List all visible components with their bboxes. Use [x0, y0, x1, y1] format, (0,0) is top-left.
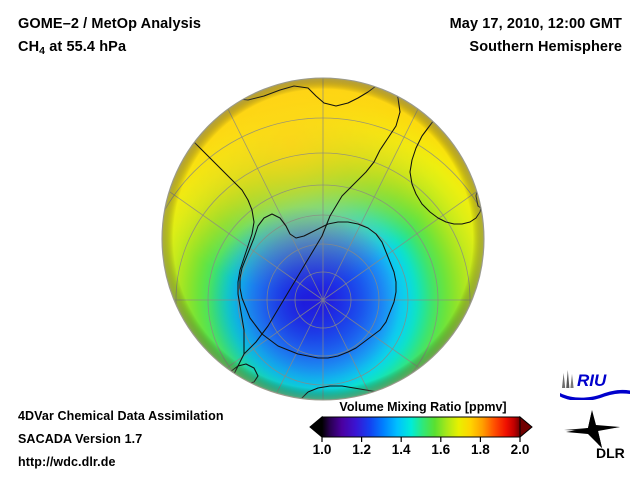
species-label: CH [18, 39, 39, 55]
colorbar-title: Volume Mixing Ratio [ppmv] [308, 400, 538, 414]
url-label[interactable]: http://wdc.dlr.de [18, 451, 224, 474]
riu-logo-text: RIU [577, 371, 607, 390]
dlr-logo: DLR [562, 408, 628, 462]
header-left: GOME–2 / MetOp Analysis CH4 at 55.4 hPa [18, 13, 201, 63]
hemisphere-label: Southern Hemisphere [450, 36, 622, 59]
colorbar: Volume Mixing Ratio [ppmv] 1.01.21.41.61… [308, 400, 538, 472]
instrument-title: GOME–2 / MetOp Analysis [18, 13, 201, 36]
dlr-logo-text: DLR [596, 445, 625, 461]
header-right: May 17, 2010, 12:00 GMT Southern Hemisph… [450, 13, 622, 59]
level-label: at 55.4 hPa [45, 39, 126, 55]
footer-left: 4DVar Chemical Data Assimilation SACADA … [18, 405, 224, 474]
colorbar-tick-label: 1.6 [431, 442, 450, 457]
colorbar-tick-label: 1.4 [392, 442, 411, 457]
colorbar-tick-labels: 1.01.21.41.61.82.0 [308, 442, 538, 464]
colorbar-cap-left [310, 417, 322, 437]
colorbar-tick-label: 2.0 [511, 442, 530, 457]
colorbar-bar [322, 417, 520, 437]
globe-limb-shading [162, 78, 484, 400]
globe-map [160, 76, 486, 402]
colorbar-svg [308, 415, 538, 443]
dlr-mark-icon [564, 410, 620, 448]
timestamp-label: May 17, 2010, 12:00 GMT [450, 13, 622, 36]
species-level-title: CH4 at 55.4 hPa [18, 36, 201, 63]
globe-svg [160, 76, 486, 402]
method-label: 4DVar Chemical Data Assimilation [18, 405, 224, 428]
colorbar-cap-right [520, 417, 532, 437]
riu-swoosh-icon [560, 390, 630, 400]
colorbar-tick-label: 1.2 [352, 442, 371, 457]
colorbar-tick-label: 1.8 [471, 442, 490, 457]
colorbar-tick-label: 1.0 [313, 442, 332, 457]
visualization-canvas: GOME–2 / MetOp Analysis CH4 at 55.4 hPa … [0, 0, 640, 480]
version-label: SACADA Version 1.7 [18, 428, 224, 451]
riu-towers-icon [562, 370, 574, 388]
riu-logo: RIU [558, 368, 632, 400]
